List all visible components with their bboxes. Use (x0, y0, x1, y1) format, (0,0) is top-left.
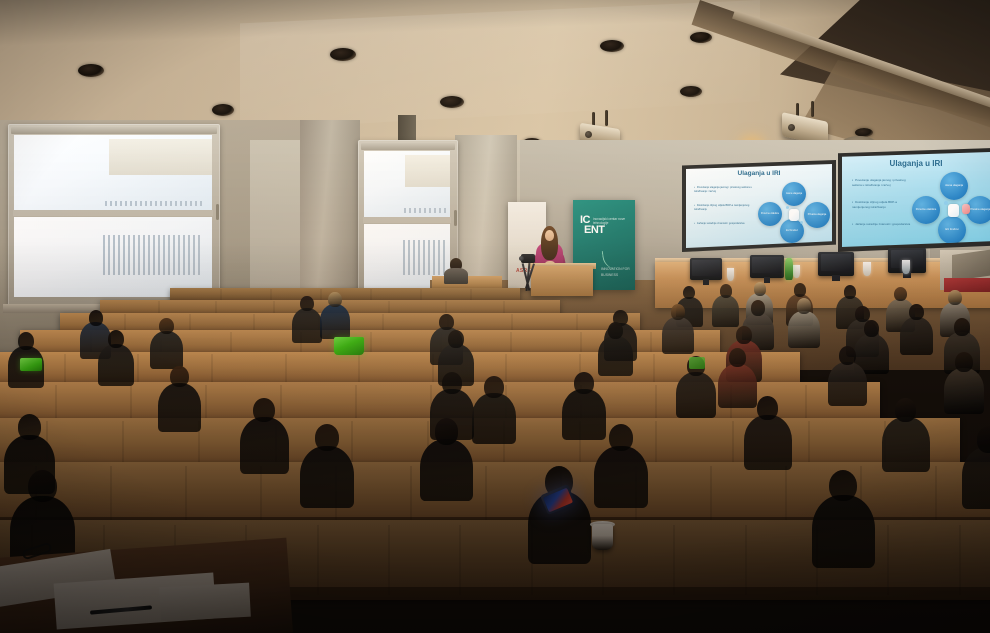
camera-lens-icon (519, 256, 524, 261)
bench-row-1-divider (185, 466, 187, 524)
attendee-r5-8-torso (828, 362, 867, 407)
attendee-r4-7 (962, 426, 990, 514)
diagram-node-top-label: Javna ulaganja (945, 185, 963, 188)
diagram-node-top-label: Javna ulaganja (786, 193, 802, 196)
diagram-node-right: Privatna ulaganja (804, 202, 830, 228)
attendee-r3-3 (812, 470, 875, 574)
handout-paper-3 (159, 583, 251, 622)
window-middle-blind-box[interactable] (361, 143, 455, 150)
diagram-node-right-label: Privatna ulaganja (808, 214, 826, 217)
lecture-hall-photo: Ulaganja u IRI Povećanje ulaganja javnog… (0, 0, 990, 633)
attendee-r8-4-head (794, 283, 806, 297)
table-monitor-3-display (821, 254, 852, 271)
diagram-node-left-label: Porezne olakšice (761, 213, 779, 216)
attendee-r4-5 (744, 396, 792, 475)
attendee-r6-4-head (608, 322, 624, 339)
diagram-center-graphic (948, 204, 959, 217)
attendee-r4-6-head (895, 398, 916, 422)
window-left-exterior-railing (105, 201, 204, 206)
downlight-2 (330, 48, 356, 61)
ceiling-projector-left-lens-icon (585, 131, 592, 138)
lectern (531, 266, 593, 296)
bench-row-1-divider (710, 466, 712, 524)
green-water-bottle (785, 258, 793, 280)
bench-row-0-divider (959, 525, 961, 595)
front-attendee-torso (444, 268, 468, 284)
window-left-upper-sash (14, 135, 212, 210)
attendee-r4-7-torso (962, 447, 990, 509)
attendee-r5-1-head (170, 366, 189, 387)
window-left-exterior-building (109, 139, 212, 175)
attendee-r8-6-head (894, 287, 907, 301)
green-tote-bag-1 (334, 337, 364, 355)
table-monitor-3[interactable] (818, 252, 854, 276)
water-glass-2 (793, 265, 800, 278)
water-glass-3 (863, 262, 871, 276)
attendee-r5-6-torso (676, 372, 716, 418)
attendee-r7-3-torso (292, 308, 322, 343)
bench-row-0-divider (317, 525, 319, 595)
window-left-exterior-railing-lower (103, 235, 202, 275)
bench-row-1-divider (935, 466, 937, 524)
table-monitor-2[interactable] (750, 255, 784, 278)
attendee-r5-9-head (955, 352, 973, 372)
slide-bullet-right-2: Dostizanje ciljnog udjela BDP-a namijenj… (852, 200, 914, 209)
attendee-r3-1-head (28, 470, 57, 502)
attendee-r5-4-torso (472, 393, 516, 444)
slide-bullet-left-3: Jačanje suradnje znanosti i gospodarstva (694, 222, 756, 226)
slide-title-left: Ulaganja u IRI (686, 170, 832, 177)
attendee-r7-7-head (671, 304, 685, 320)
diagram-node-top: Javna ulaganja (940, 172, 968, 200)
attendee-r7-11 (900, 304, 933, 358)
attendee-r6-2-torso (98, 344, 134, 386)
attendee-r4-2-head (315, 424, 339, 451)
diagram-dot-1 (944, 201, 948, 205)
bench-row-0-divider (887, 525, 889, 595)
attendee-r4-2-torso (300, 446, 354, 508)
attendee-r5-8-head (839, 346, 856, 365)
green-tote-bag-2 (20, 358, 42, 371)
diagram-node-bottom-label: EU fondovi (945, 229, 958, 232)
window-middle-handle[interactable] (454, 210, 457, 226)
attendee-r8-2-torso (712, 295, 739, 327)
attendee-r7-7-torso (662, 317, 694, 354)
attendee-r6-1-head (18, 332, 34, 350)
attendee-r6-3-head (448, 330, 464, 348)
diagram-node-bottom: EU fondovi (938, 216, 966, 244)
ceiling-projector-right-mount-arm-2 (811, 101, 814, 117)
downlight-5 (440, 96, 464, 108)
bench-row-1-divider (110, 466, 112, 524)
attendee-r4-5-head (757, 396, 778, 420)
slide-bullet-right-1: Povećanje ulaganja javnog i privatnog se… (852, 178, 914, 187)
attendee-r6-5-head (736, 326, 752, 344)
open-laptop-far-right (952, 249, 990, 281)
attendee-r4-4-torso (594, 446, 648, 508)
attendee-r3-2 (528, 466, 591, 570)
attendee-r5-4-head (484, 376, 504, 398)
window-middle-exterior-railing-lower (403, 240, 446, 275)
attendee-r5-5-head (574, 372, 594, 394)
attendee-r7-4-torso (320, 304, 350, 339)
diagram-node-left: Porezne olakšice (912, 196, 940, 224)
window-left-middle-rail (13, 210, 213, 216)
downlight-1 (78, 64, 104, 77)
ceiling-projector-right-lens-icon (788, 124, 795, 131)
attendee-r5-9 (944, 352, 984, 418)
slide-bullet-left-1: Povećanje ulaganja javnog i privatnog se… (694, 186, 756, 194)
attendee-r7-5-head (439, 314, 454, 330)
attendee-r4-1-head (18, 414, 41, 440)
attendee-r5-9-torso (944, 368, 984, 414)
attendee-r7-7 (662, 304, 694, 357)
water-glass-1 (727, 268, 734, 281)
projection-screen-right: Ulaganja u IRI Povećanje ulaganja javnog… (842, 152, 990, 247)
diagram-node-bottom-label: EU fondovi (786, 230, 798, 233)
attendee-r7-3 (292, 296, 322, 346)
attendee-r4-5-torso (744, 415, 792, 470)
downlight-12 (690, 32, 712, 43)
diagram-dot-1 (786, 206, 789, 209)
diagram-center-graphic-2 (962, 204, 970, 214)
attendee-r7-9-torso (788, 311, 820, 348)
diagram-node-top: Javna ulaganja (782, 182, 806, 206)
banner-teal-logo-ent: ENT (584, 226, 605, 236)
table-monitor-1-display (692, 260, 720, 276)
bench-row-0-divider (745, 525, 747, 595)
downlight-3 (600, 40, 624, 52)
bench-row-1-divider (485, 466, 487, 524)
attendee-r7-9 (788, 298, 820, 351)
attendee-r5-3-head (442, 372, 462, 394)
slide-title-right: Ulaganja u IRI (842, 159, 990, 168)
window-middle-upper-sash (364, 151, 450, 217)
green-tote-bag-3 (689, 357, 705, 369)
banner-teal-subtext: inovacijski centar nove tehnologije (593, 217, 631, 225)
attendee-r6-6-head (864, 320, 880, 337)
attendee-r4-6 (882, 398, 930, 477)
bench-row-0-divider (673, 525, 675, 595)
attendee-r4-6-torso (882, 417, 930, 472)
projection-screen-left: Ulaganja u IRI Povećanje ulaganja javnog… (686, 164, 832, 248)
attendee-r5-2-head (253, 398, 275, 422)
attendee-r8-1-head (683, 286, 695, 299)
attendee-r4-7-head (977, 426, 990, 453)
diagram-dot-2 (800, 221, 803, 224)
attendee-r5-7-head (729, 348, 746, 367)
attendee-r8-3-head (754, 282, 766, 296)
diagram-node-left: Porezne olakšice (758, 202, 782, 226)
table-monitor-2-display (752, 257, 781, 274)
attendee-r7-4-head (328, 292, 342, 307)
attendee-r4-2 (300, 424, 354, 513)
ceiling-projector-left-mount-arm-2 (605, 110, 608, 126)
attendee-r4-4 (594, 424, 648, 513)
presenter-face (545, 230, 554, 241)
attendee-r7-2 (150, 318, 183, 372)
attendee-r3-3-torso (812, 495, 875, 568)
banner-teal-footer: INNOVATION FOR BUSINESS (601, 267, 635, 278)
attendee-r4-3 (420, 418, 473, 506)
window-left (8, 124, 220, 306)
attendee-r6-2 (98, 330, 134, 390)
attendee-r5-4 (472, 376, 516, 448)
window-left-blind-box[interactable] (11, 127, 217, 134)
water-glass-4 (902, 260, 910, 274)
slide-bullet-right-3: Jačanje suradnje znanosti i gospodarstva (852, 222, 914, 227)
slide-bullet-left-2: Dostizanje ciljnog udjela BDP-a namijenj… (694, 204, 756, 212)
window-left-lower-sash (14, 217, 212, 297)
table-monitor-3-stand (832, 275, 839, 281)
table-monitor-1-stand (703, 279, 709, 285)
attendee-r8-7-head (948, 290, 962, 305)
attendee-r7-8-head (751, 300, 765, 316)
bench-row-1-divider (410, 466, 412, 524)
slide-right: Ulaganja u IRI Povećanje ulaganja javnog… (842, 152, 990, 247)
window-left-handle[interactable] (216, 204, 219, 220)
attendee-r5-1-torso (158, 383, 201, 432)
diagram-node-left-label: Porezne olakšice (916, 209, 936, 212)
window-middle-middle-rail (363, 217, 451, 223)
window-middle-exterior-railing (404, 208, 447, 213)
attendee-r7-11-head (909, 304, 924, 320)
attendee-r5-8 (828, 346, 867, 410)
bench-row-0-divider (459, 525, 461, 595)
table-monitor-1[interactable] (690, 258, 722, 280)
attendee-r7-1-head (89, 310, 103, 326)
downlight-6 (680, 86, 702, 97)
downlight-4 (212, 104, 234, 116)
attendee-r5-2 (240, 398, 289, 479)
attendee-r7-2-torso (150, 331, 183, 369)
attendee-r4-3-torso (420, 439, 473, 501)
attendee-r4-4-head (609, 424, 633, 451)
attendee-r5-1 (158, 366, 201, 437)
attendee-r6-4-torso (598, 336, 633, 376)
attendee-r8-2-head (720, 284, 732, 298)
attendee-r7-3-head (300, 296, 314, 311)
diagram-center-graphic (789, 209, 799, 221)
attendee-r7-9-head (797, 298, 811, 314)
attendee-r6-7-head (954, 318, 970, 336)
attendee-r7-2-head (159, 318, 174, 334)
attendee-r7-11-torso (900, 317, 933, 355)
diagram-node-right-label: Privatna ulaganja (970, 209, 990, 212)
attendee-r5-2-torso (240, 417, 289, 473)
attendee-r8-5-head (844, 285, 857, 299)
bench-row-0-divider (388, 525, 390, 595)
attendee-r3-3-head (829, 470, 857, 501)
attendee-r6-2-head (108, 330, 124, 348)
paper-coffee-cup (592, 524, 613, 550)
attendee-r4-3-head (435, 418, 459, 445)
slide-left: Ulaganja u IRI Povećanje ulaganja javnog… (686, 164, 832, 248)
window-middle-exterior-building (405, 155, 450, 187)
attendee-r8-2 (712, 284, 739, 329)
attendee-r7-4 (320, 292, 350, 342)
